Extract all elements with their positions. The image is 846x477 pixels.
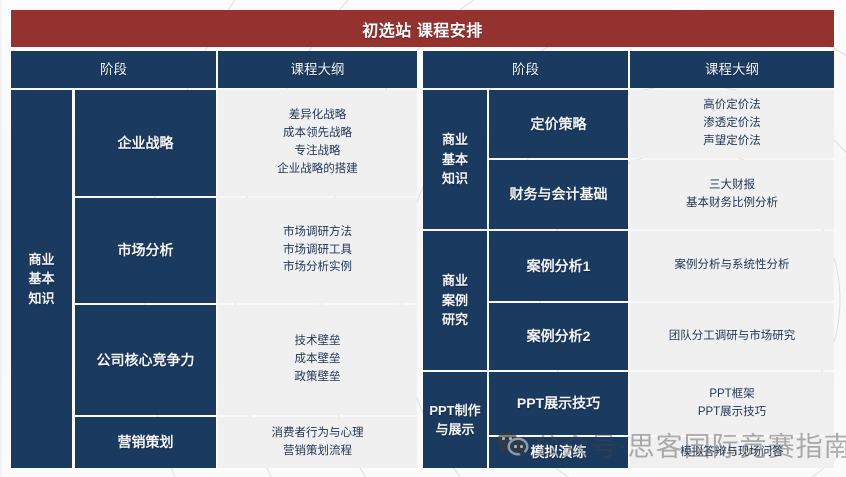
right-category-business-case-study: 商业 案例 研究 [423, 231, 487, 370]
outline-line: 渗透定价法 [703, 117, 761, 129]
cat-line: 商业 [442, 273, 468, 288]
outline-line: PPT框架 [709, 388, 754, 400]
cat-line: 知识 [442, 171, 468, 186]
right-stage-pricing-strategy: 定价策略 [489, 90, 628, 158]
cat-line: 与展示 [435, 422, 474, 437]
right-header-outline: 课程大纲 [630, 51, 834, 88]
right-stage-ppt-skills: PPT展示技巧 [489, 372, 628, 435]
left-stage-corporate-strategy: 企业战略 [75, 90, 216, 196]
right-header-stage: 阶段 [423, 51, 628, 88]
right-outline-pricing-strategy: 高价定价法 渗透定价法 声望定价法 [630, 90, 834, 158]
outline-line: 案例分析与系统性分析 [675, 259, 790, 271]
right-outline-case-analysis-1: 案例分析与系统性分析 [630, 231, 834, 301]
outline-line: 政策壁垒 [295, 371, 341, 383]
outline-line: 专注战略 [295, 145, 341, 157]
course-schedule-sheet: 初选站 课程安排 阶段 课程大纲 商业 基本 知识 企业战略 差异化战略 成本领… [11, 10, 834, 468]
cat-line: 商业 [28, 252, 54, 267]
right-category-ppt-production: PPT制作 与展示 [423, 372, 487, 468]
outline-line: 基本财务比例分析 [686, 197, 778, 209]
right-outline-finance-accounting: 三大财报 基本财务比例分析 [630, 160, 834, 229]
outline-line: 团队分工调研与市场研究 [669, 330, 796, 342]
outline-line: 差异化战略 [289, 109, 347, 121]
cat-line: 案例 [442, 293, 468, 308]
left-stage-market-analysis: 市场分析 [75, 198, 216, 303]
left-category-business-basics: 商业 基本 知识 [11, 90, 72, 468]
right-outline-mock-rehearsal: 模拟答辩与现场问答 [630, 437, 834, 468]
outline-line: 成本领先战略 [283, 127, 352, 139]
left-stage-core-competitiveness: 公司核心竞争力 [75, 305, 216, 415]
outline-line: 企业战略的搭建 [277, 163, 358, 175]
cat-line: 基本 [28, 271, 54, 286]
outline-line: 声望定价法 [703, 135, 761, 147]
cat-line: PPT制作 [429, 403, 480, 418]
cat-line: 研究 [442, 312, 468, 327]
outline-line: 市场分析实例 [283, 261, 352, 273]
outline-line: 市场调研方法 [283, 226, 352, 238]
outline-line: 技术壁垒 [295, 335, 341, 347]
left-outline-marketing-planning: 消费者行为与心理 营销策划流程 [218, 417, 417, 468]
outline-line: PPT展示技巧 [698, 406, 766, 418]
page-title: 初选站 课程安排 [11, 10, 834, 47]
right-category-business-basics: 商业 基本 知识 [423, 90, 487, 229]
left-outline-core-competitiveness: 技术壁垒 成本壁垒 政策壁垒 [218, 305, 417, 415]
outline-line: 消费者行为与心理 [272, 427, 364, 439]
left-header-stage: 阶段 [11, 51, 216, 88]
cat-line: 商业 [442, 132, 468, 147]
outline-line: 模拟答辩与现场问答 [680, 446, 784, 458]
right-outline-ppt-skills: PPT框架 PPT展示技巧 [630, 372, 834, 435]
left-stage-marketing-planning: 营销策划 [75, 417, 216, 468]
outline-line: 高价定价法 [703, 99, 761, 111]
outline-line: 营销策划流程 [283, 445, 352, 457]
outline-line: 市场调研工具 [283, 244, 352, 256]
right-stage-case-analysis-2: 案例分析2 [489, 303, 628, 370]
left-header-outline: 课程大纲 [218, 51, 417, 88]
left-outline-market-analysis: 市场调研方法 市场调研工具 市场分析实例 [218, 198, 417, 303]
right-stage-mock-rehearsal: 模拟演练 [489, 437, 628, 468]
left-outline-corporate-strategy: 差异化战略 成本领先战略 专注战略 企业战略的搭建 [218, 90, 417, 196]
right-outline-case-analysis-2: 团队分工调研与市场研究 [630, 303, 834, 370]
cat-line: 基本 [442, 152, 468, 167]
right-stage-finance-accounting: 财务与会计基础 [489, 160, 628, 229]
outline-line: 三大财报 [709, 179, 755, 191]
outline-line: 成本壁垒 [295, 353, 341, 365]
page-background: 初选站 课程安排 阶段 课程大纲 商业 基本 知识 企业战略 差异化战略 成本领… [0, 0, 846, 477]
right-stage-case-analysis-1: 案例分析1 [489, 231, 628, 301]
cat-line: 知识 [28, 291, 54, 306]
